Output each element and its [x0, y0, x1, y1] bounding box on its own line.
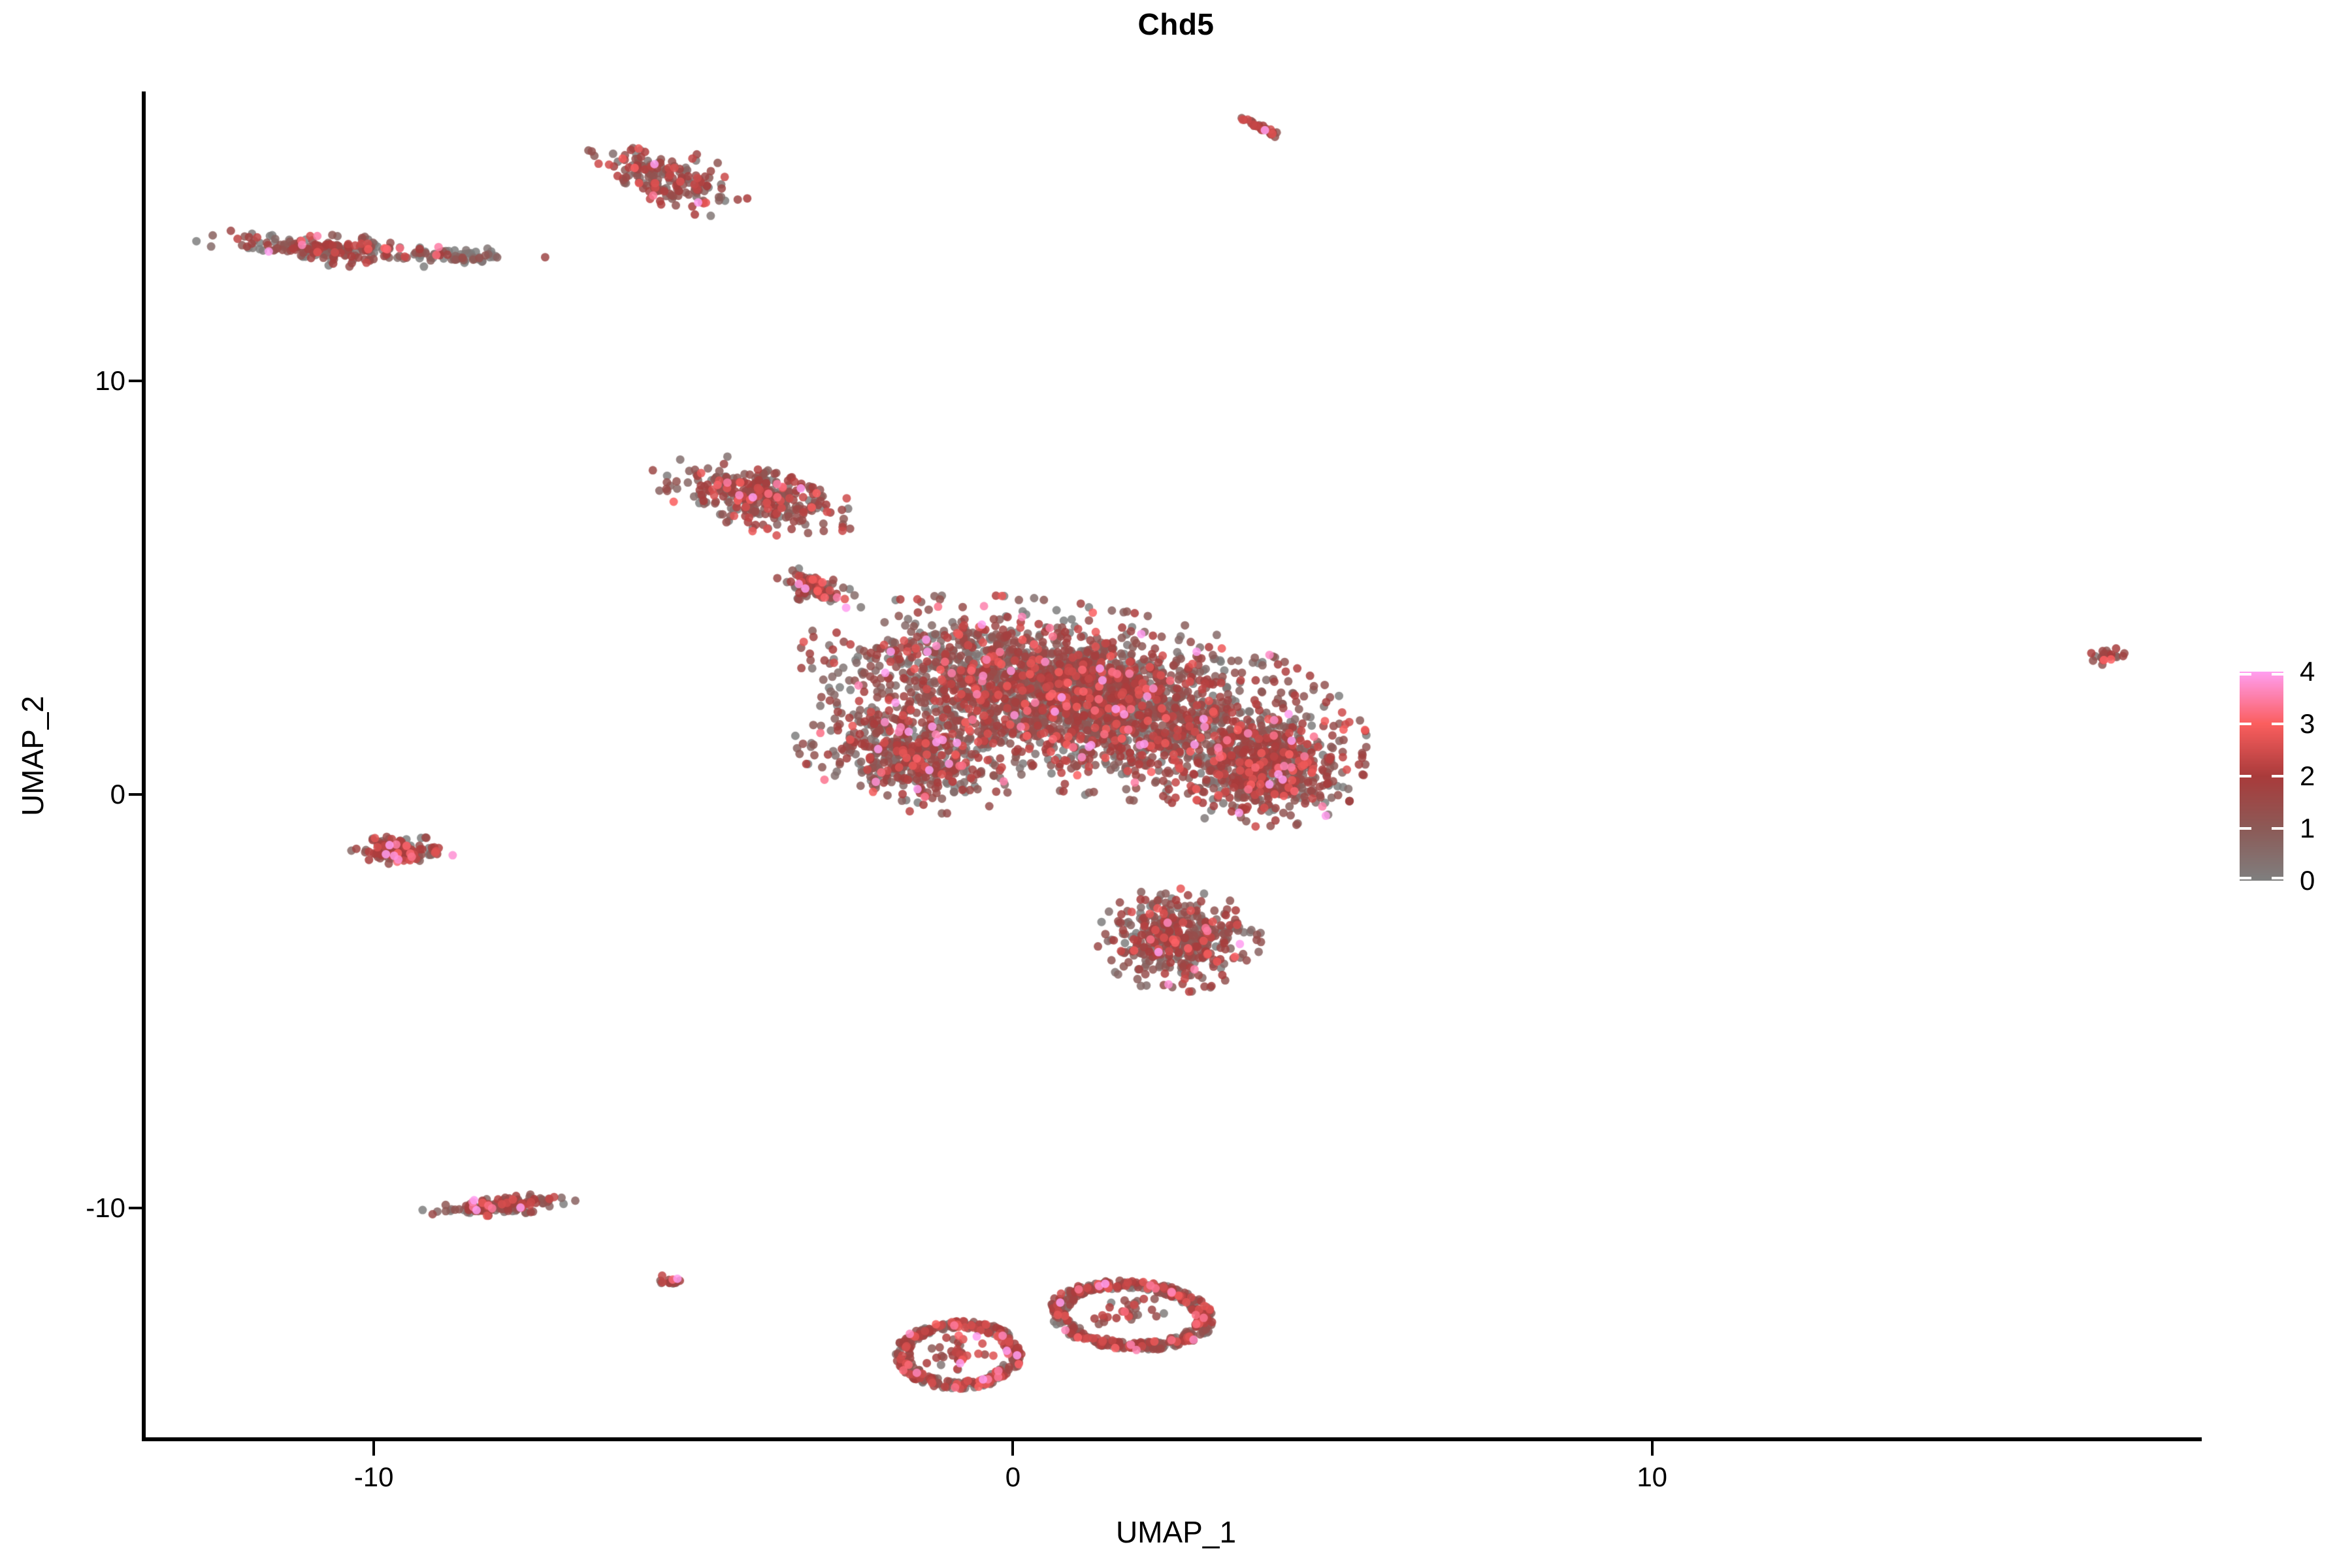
colorbar-tick-mark — [2272, 827, 2283, 830]
umap-feature-plot: Chd5 100-10 -10010 UMAP_1 UMAP_2 43210 — [0, 0, 2352, 1568]
x-tick-mark — [372, 1441, 375, 1456]
plot-panel — [144, 91, 2202, 1439]
colorbar-tick-mark — [2240, 673, 2251, 676]
y-tick-label: 10 — [95, 367, 125, 395]
colorbar-legend: 43210 — [2240, 672, 2344, 882]
colorbar-tick-mark — [2240, 877, 2251, 879]
x-tick-label: 10 — [1637, 1463, 1667, 1491]
x-axis-line — [142, 1437, 2202, 1441]
x-tick-label: -10 — [354, 1463, 394, 1491]
colorbar-tick-mark — [2272, 673, 2283, 676]
y-axis-line — [142, 91, 146, 1441]
y-axis-title: UMAP_2 — [15, 495, 50, 1017]
colorbar-tick-mark — [2240, 723, 2251, 725]
colorbar-tick-label: 1 — [2300, 815, 2315, 842]
colorbar-tick-label: 3 — [2300, 710, 2315, 738]
y-tick-mark — [129, 1207, 142, 1209]
y-tick-mark — [129, 380, 142, 382]
x-tick-mark — [1651, 1441, 1654, 1456]
colorbar-tick-mark — [2272, 775, 2283, 777]
y-tick-label: 0 — [110, 781, 125, 808]
colorbar-tick-label: 0 — [2300, 867, 2315, 894]
colorbar-tick-mark — [2272, 877, 2283, 879]
page-title: Chd5 — [0, 7, 2352, 42]
colorbar-tick-mark — [2240, 775, 2251, 777]
scatter-plot-canvas — [144, 91, 2202, 1439]
y-tick-mark — [129, 793, 142, 796]
colorbar-tick-mark — [2240, 827, 2251, 830]
colorbar-tick-label: 2 — [2300, 762, 2315, 790]
colorbar-tick-label: 4 — [2300, 658, 2315, 685]
y-tick-label: -10 — [86, 1194, 125, 1222]
x-tick-label: 0 — [1005, 1463, 1021, 1491]
x-tick-mark — [1011, 1441, 1014, 1456]
colorbar-tick-mark — [2272, 723, 2283, 725]
x-axis-title: UMAP_1 — [0, 1514, 2352, 1550]
